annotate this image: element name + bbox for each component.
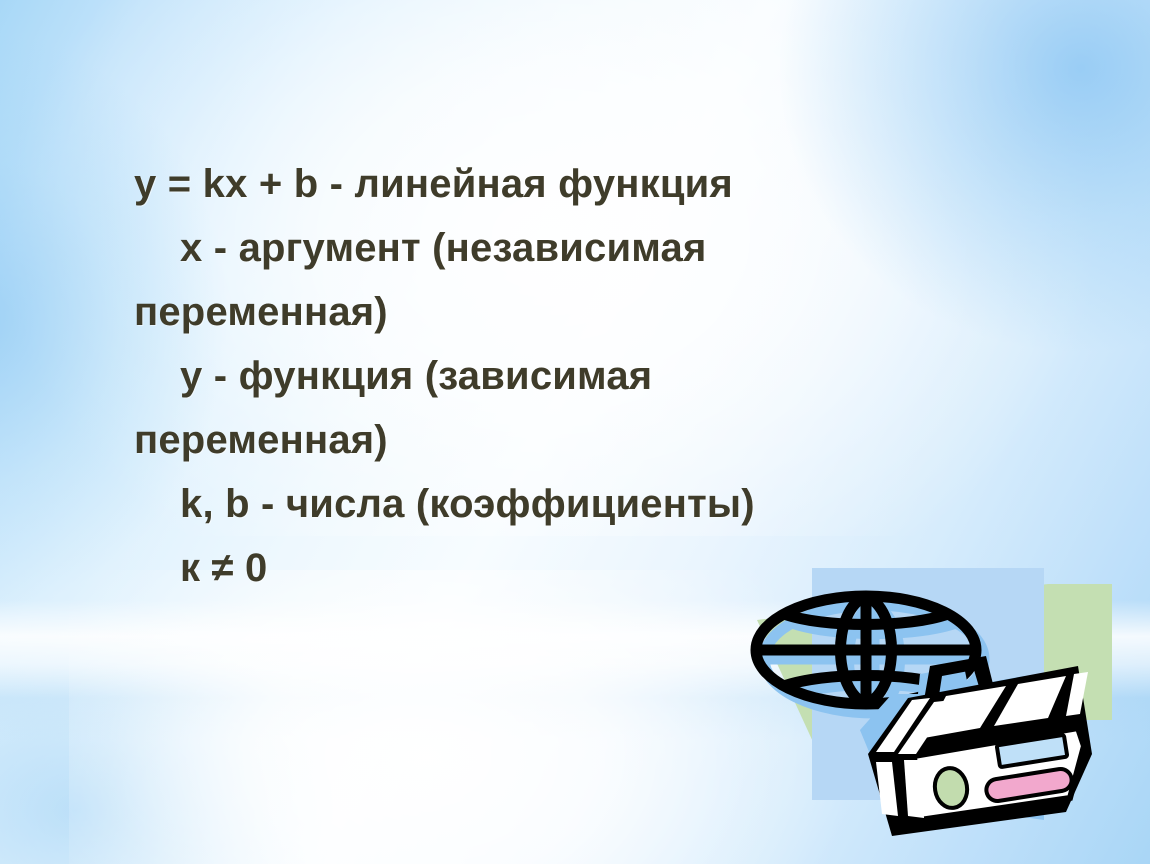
text-line-y-function-wrap: переменная) xyxy=(134,404,994,476)
text-line-x-argument-wrap: переменная) xyxy=(134,276,994,348)
slide-canvas: y = kx + b - линейная функция x - аргуме… xyxy=(0,0,1150,864)
text-line-y-function: y - функция (зависимая xyxy=(134,340,994,412)
body-text-block: y = kx + b - линейная функция x - аргуме… xyxy=(134,148,994,604)
text-line-formula: y = kx + b - линейная функция xyxy=(134,148,994,220)
text-line-kb-numbers: k, b - числа (коэффициенты) xyxy=(134,468,994,540)
globe-and-briefcase-clipart xyxy=(748,548,1150,864)
text-line-x-argument: x - аргумент (независимая xyxy=(134,212,994,284)
